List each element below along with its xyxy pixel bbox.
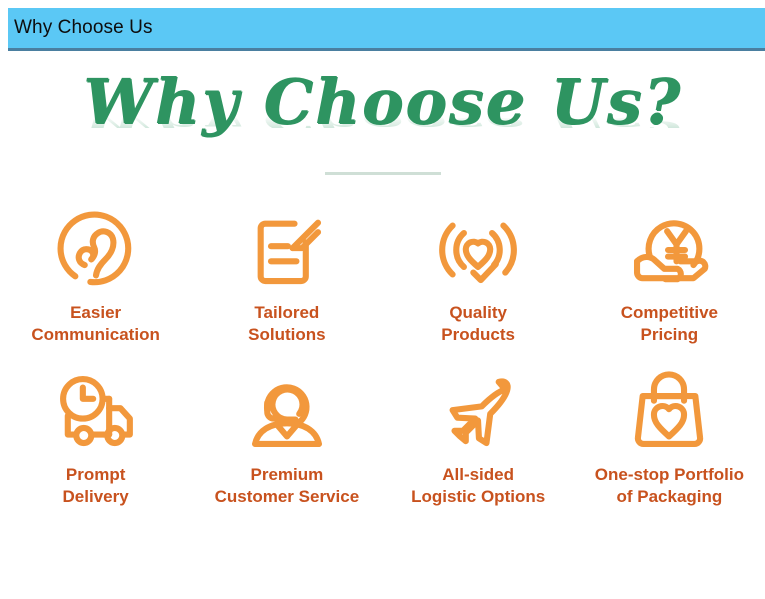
feature-item[interactable]: Quality Products xyxy=(383,202,574,364)
feature-label: Quality Products xyxy=(441,302,515,346)
feature-item[interactable]: Premium Customer Service xyxy=(191,364,382,526)
feature-label: Easier Communication xyxy=(31,302,159,346)
headset-agent-icon xyxy=(239,364,335,460)
hand-yen-coin-icon xyxy=(621,202,717,298)
feature-label: Competitive Pricing xyxy=(621,302,718,346)
window-title: Why Choose Us xyxy=(8,17,153,39)
truck-clock-icon xyxy=(48,364,144,460)
features-grid: Easier Communication Tailored Solutions xyxy=(0,202,765,526)
title-divider xyxy=(325,172,441,175)
shopping-bag-heart-icon xyxy=(621,364,717,460)
feature-item[interactable]: Competitive Pricing xyxy=(574,202,765,364)
feature-label: One-stop Portfolio of Packaging xyxy=(595,464,744,508)
page-title: Why Choose Us? xyxy=(0,54,765,138)
hero-section: Why Choose Us? Why Choose Us? xyxy=(0,54,765,166)
page-content: Why Choose Us? Why Choose Us? Easier Com… xyxy=(0,54,765,599)
document-pencil-icon xyxy=(239,202,335,298)
feature-item[interactable]: One-stop Portfolio of Packaging xyxy=(574,364,765,526)
airplane-icon xyxy=(430,364,526,460)
feature-label: All-sided Logistic Options xyxy=(411,464,545,508)
heart-check-signal-icon xyxy=(430,202,526,298)
feature-label: Tailored Solutions xyxy=(248,302,325,346)
feature-label: Premium Customer Service xyxy=(215,464,360,508)
feature-item[interactable]: Prompt Delivery xyxy=(0,364,191,526)
window-titlebar: Why Choose Us xyxy=(8,8,765,51)
feature-label: Prompt Delivery xyxy=(63,464,129,508)
feature-item[interactable]: Tailored Solutions xyxy=(191,202,382,364)
ear-circle-icon xyxy=(48,202,144,298)
feature-item[interactable]: Easier Communication xyxy=(0,202,191,364)
feature-item[interactable]: All-sided Logistic Options xyxy=(383,364,574,526)
